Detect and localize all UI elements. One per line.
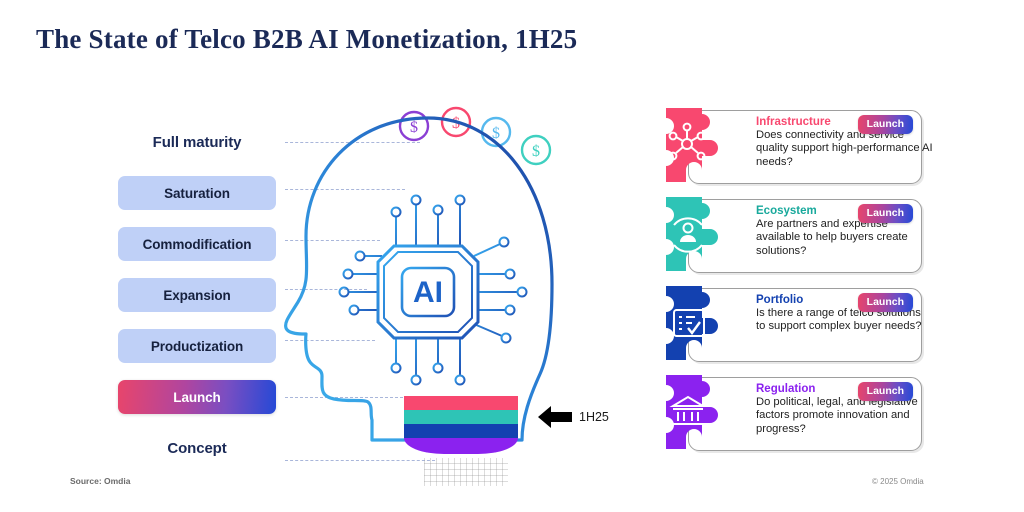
ladder-label-concept: Concept	[118, 431, 276, 465]
maturity-ladder: Full maturity Saturation Commodification…	[118, 125, 280, 482]
pedestal-texture	[424, 458, 508, 486]
neck-progress-bands	[404, 396, 518, 454]
card-badge-launch[interactable]: Launch	[858, 204, 913, 223]
pillar-card-ecosystem[interactable]: Launch Ecosystem Are partners and expert…	[660, 195, 922, 273]
card-question: Are partners and expertise available to …	[756, 218, 928, 258]
ai-chip-label: AI	[413, 276, 443, 309]
government-building-icon	[660, 373, 722, 451]
checklist-icon	[660, 284, 722, 362]
ladder-stage-saturation[interactable]: Saturation	[118, 176, 276, 210]
neck-band-regulation	[404, 438, 518, 454]
pillar-card-portfolio[interactable]: Launch Portfolio Is there a range of tel…	[660, 284, 922, 362]
ladder-stage-productization[interactable]: Productization	[118, 329, 276, 363]
pillar-card-list: Launch Infrastructure Does connectivity …	[660, 106, 922, 462]
source-note: Source: Omdia	[70, 476, 130, 486]
card-badge-launch[interactable]: Launch	[858, 115, 913, 134]
pillar-card-infrastructure[interactable]: Launch Infrastructure Does connectivity …	[660, 106, 922, 184]
slide-canvas: The State of Telco B2B AI Monetization, …	[0, 0, 1024, 512]
card-question: Do political, legal, and legislative fac…	[756, 396, 920, 436]
neck-band-portfolio	[404, 424, 518, 438]
network-hub-icon	[660, 106, 722, 184]
copyright-note: © 2025 Omdia	[872, 477, 924, 486]
card-badge-launch[interactable]: Launch	[858, 382, 913, 401]
ladder-stage-commodification[interactable]: Commodification	[118, 227, 276, 261]
card-badge-launch[interactable]: Launch	[858, 293, 913, 312]
left-arrow-icon	[536, 404, 574, 430]
partner-person-icon	[660, 195, 722, 273]
ladder-stage-launch[interactable]: Launch	[118, 380, 276, 414]
page-title: The State of Telco B2B AI Monetization, …	[36, 24, 577, 55]
card-question: Does connectivity and service quality su…	[756, 129, 934, 169]
ladder-stage-expansion[interactable]: Expansion	[118, 278, 276, 312]
current-period-marker: 1H25	[536, 404, 609, 430]
pillar-card-regulation[interactable]: Launch Regulation Do political, legal, a…	[660, 373, 922, 451]
ladder-label-full-maturity: Full maturity	[118, 125, 276, 159]
neck-band-ecosystem	[404, 410, 518, 424]
current-period-label: 1H25	[579, 410, 609, 424]
neck-band-infrastructure	[404, 396, 518, 410]
